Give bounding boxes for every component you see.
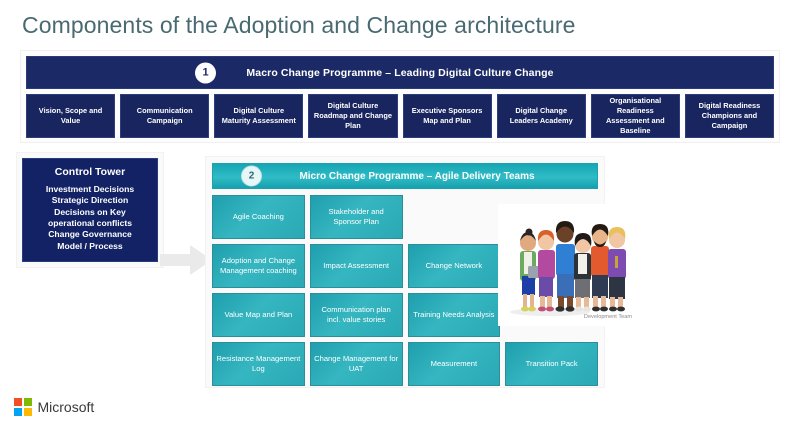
microsoft-logo: Microsoft	[14, 398, 94, 416]
micro-cell[interactable]: Training Needs Analysis	[408, 293, 501, 337]
micro-header-title: Micro Change Programme – Agile Delivery …	[299, 171, 534, 182]
microsoft-logo-square	[24, 398, 32, 406]
micro-step-badge: 2	[241, 166, 262, 187]
macro-box[interactable]: Digital Readiness Champions and Campaign	[685, 94, 774, 138]
micro-cell[interactable]: Transition Pack	[505, 342, 598, 386]
macro-header-bar: 1 Macro Change Programme – Leading Digit…	[26, 56, 774, 89]
macro-box[interactable]: Executive Sponsors Map and Plan	[403, 94, 492, 138]
micro-header-bar: 2 Micro Change Programme – Agile Deliver…	[212, 163, 598, 189]
micro-cell[interactable]: Measurement	[408, 342, 501, 386]
team-caption: Development Team	[584, 314, 632, 321]
macro-box-row: Vision, Scope and ValueCommunication Cam…	[26, 94, 774, 138]
control-tower-title: Control Tower	[28, 166, 152, 178]
macro-box[interactable]: Digital Change Leaders Academy	[497, 94, 586, 138]
microsoft-logo-square	[14, 398, 22, 406]
control-tower-line: Decisions on Key	[28, 207, 152, 218]
control-tower-line: Model / Process	[28, 241, 152, 252]
micro-cell[interactable]: Communication plan incl. value stories	[310, 293, 403, 337]
development-team-illustration: Development Team	[498, 204, 638, 326]
macro-box[interactable]: Digital Culture Roadmap and Change Plan	[308, 94, 397, 138]
control-tower-line: Strategic Direction	[28, 195, 152, 206]
control-tower-line: operational conflicts	[28, 218, 152, 229]
microsoft-logo-square	[24, 408, 32, 416]
micro-cell[interactable]: Impact Assessment	[310, 244, 403, 288]
control-tower-section: Control Tower Investment DecisionsStrate…	[16, 152, 164, 268]
microsoft-logo-squares	[14, 398, 32, 416]
control-tower-line: Change Governance	[28, 229, 152, 240]
control-tower-box[interactable]: Control Tower Investment DecisionsStrate…	[22, 158, 158, 262]
control-tower-lines: Investment DecisionsStrategic DirectionD…	[28, 184, 152, 252]
team-people-graphic	[498, 204, 638, 326]
control-tower-line: Investment Decisions	[28, 184, 152, 195]
macro-step-badge: 1	[195, 62, 216, 83]
macro-box[interactable]: Communication Campaign	[120, 94, 209, 138]
macro-header-title: Macro Change Programme – Leading Digital…	[246, 67, 553, 79]
macro-change-programme-section: 1 Macro Change Programme – Leading Digit…	[20, 50, 780, 143]
page-title: Components of the Adoption and Change ar…	[22, 12, 576, 39]
micro-cell[interactable]: Adoption and Change Management coaching	[212, 244, 305, 288]
micro-cell[interactable]: Change Management for UAT	[310, 342, 403, 386]
micro-cell-empty	[408, 195, 501, 239]
microsoft-logo-square	[14, 408, 22, 416]
micro-cell[interactable]: Agile Coaching	[212, 195, 305, 239]
micro-cell[interactable]: Stakeholder and Sponsor Plan	[310, 195, 403, 239]
microsoft-wordmark: Microsoft	[38, 399, 95, 415]
macro-box[interactable]: Organisational Readiness Assessment and …	[591, 94, 680, 138]
macro-box[interactable]: Vision, Scope and Value	[26, 94, 115, 138]
macro-box[interactable]: Digital Culture Maturity Assessment	[214, 94, 303, 138]
micro-cell[interactable]: Resistance Management Log	[212, 342, 305, 386]
micro-cell[interactable]: Value Map and Plan	[212, 293, 305, 337]
micro-cell[interactable]: Change Network	[408, 244, 501, 288]
